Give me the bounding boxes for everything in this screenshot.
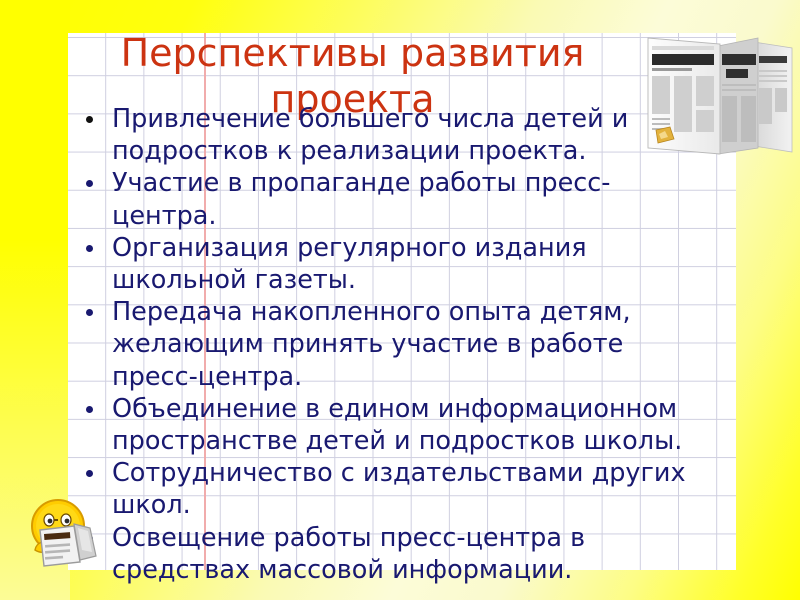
list-item-text: Объединение в едином информационном прос… <box>112 393 698 457</box>
list-item: Привлечение большего числа детей и подро… <box>78 103 698 167</box>
bullet-dot-icon <box>86 245 93 252</box>
list-item: Организация регулярного издания школьной… <box>78 232 698 296</box>
smiley-reading-newspaper-icon <box>22 494 114 570</box>
bullet-dot-icon <box>86 180 93 187</box>
list-item-text: Организация регулярного издания школьной… <box>112 232 698 296</box>
list-item: Участие в пропаганде работы пресс-центра… <box>78 167 698 231</box>
list-item: Передача накопленного опыта детям, желаю… <box>78 296 698 393</box>
list-item-text: Освещение работы пресс-центра в средства… <box>112 522 698 586</box>
bullet-list: Привлечение большего числа детей и подро… <box>78 103 698 586</box>
list-item: Освещение работы пресс-центра в средства… <box>78 522 698 586</box>
list-item-text: Участие в пропаганде работы пресс-центра… <box>112 167 698 231</box>
list-item-text: Сотрудничество с издательствами других ш… <box>112 457 698 521</box>
newspapers-clipart <box>646 26 794 162</box>
list-item-text: Привлечение большего числа детей и подро… <box>112 103 698 167</box>
list-item: Сотрудничество с издательствами других ш… <box>78 457 698 521</box>
bullet-dot-icon <box>86 470 93 477</box>
bullet-dot-icon <box>86 406 93 413</box>
bullet-dot-icon <box>86 309 93 316</box>
list-item-text: Передача накопленного опыта детям, желаю… <box>112 296 698 393</box>
bullet-dot-icon <box>86 116 93 123</box>
list-item: Объединение в едином информационном прос… <box>78 393 698 457</box>
presentation-slide: Перспективы развития проекта Привлечение… <box>0 0 800 600</box>
